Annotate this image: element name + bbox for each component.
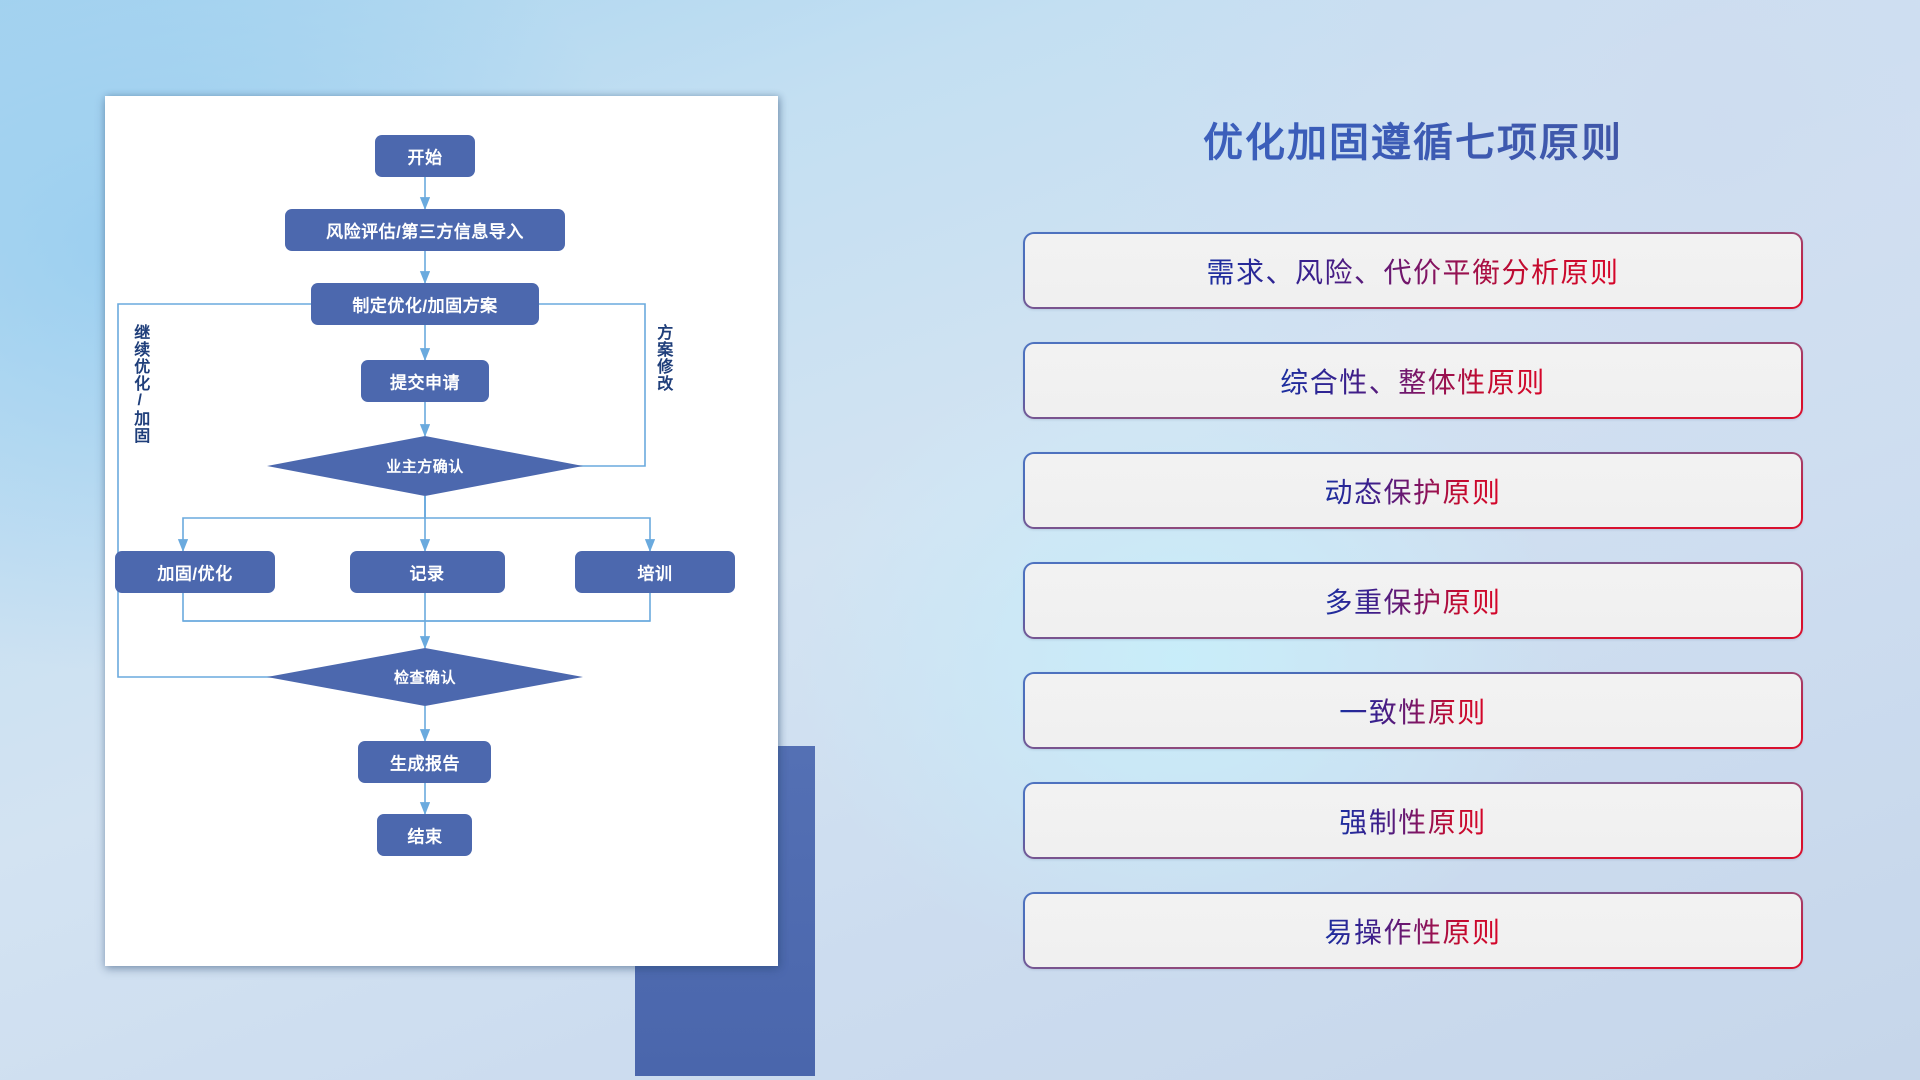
principle-label: 需求、风险、代价平衡分析原则 <box>1206 251 1619 291</box>
principle-label: 综合性、整体性原则 <box>1280 361 1546 401</box>
principle-item-5[interactable]: 一致性原则 <box>1023 672 1803 749</box>
principles-panel: 优化加固遵循七项原则 需求、风险、代价平衡分析原则 综合性、整体性原则 动态保护… <box>1023 110 1803 1010</box>
principle-item-2[interactable]: 综合性、整体性原则 <box>1023 342 1803 419</box>
flowchart-card: 开始 风险评估/第三方信息导入 制定优化/加固方案 提交申请 业主方确认 加固/… <box>105 96 778 966</box>
principle-label: 一致性原则 <box>1339 691 1487 731</box>
flowchart-diagram <box>105 96 778 966</box>
flow-connectors <box>183 177 650 814</box>
flow-node-shapes <box>115 135 735 856</box>
principle-item-1[interactable]: 需求、风险、代价平衡分析原则 <box>1023 232 1803 309</box>
principle-item-4[interactable]: 多重保护原则 <box>1023 562 1803 639</box>
principle-item-6[interactable]: 强制性原则 <box>1023 782 1803 859</box>
flow-edge-label-continue-optimize: 继续优化/加固 <box>131 324 148 444</box>
flow-edge-label-plan-revision: 方案修改 <box>654 324 671 392</box>
page-title: 优化加固遵循七项原则 <box>1023 110 1803 168</box>
principle-label: 强制性原则 <box>1339 801 1487 841</box>
flow-merge-bar <box>183 592 650 621</box>
flow-loop-right <box>503 304 645 466</box>
principle-label: 动态保护原则 <box>1324 471 1501 511</box>
principle-label: 易操作性原则 <box>1324 911 1501 951</box>
principle-item-3[interactable]: 动态保护原则 <box>1023 452 1803 529</box>
principle-label: 多重保护原则 <box>1324 581 1501 621</box>
flowchart-panel: 开始 风险评估/第三方信息导入 制定优化/加固方案 提交申请 业主方确认 加固/… <box>105 96 778 966</box>
principle-item-7[interactable]: 易操作性原则 <box>1023 892 1803 969</box>
